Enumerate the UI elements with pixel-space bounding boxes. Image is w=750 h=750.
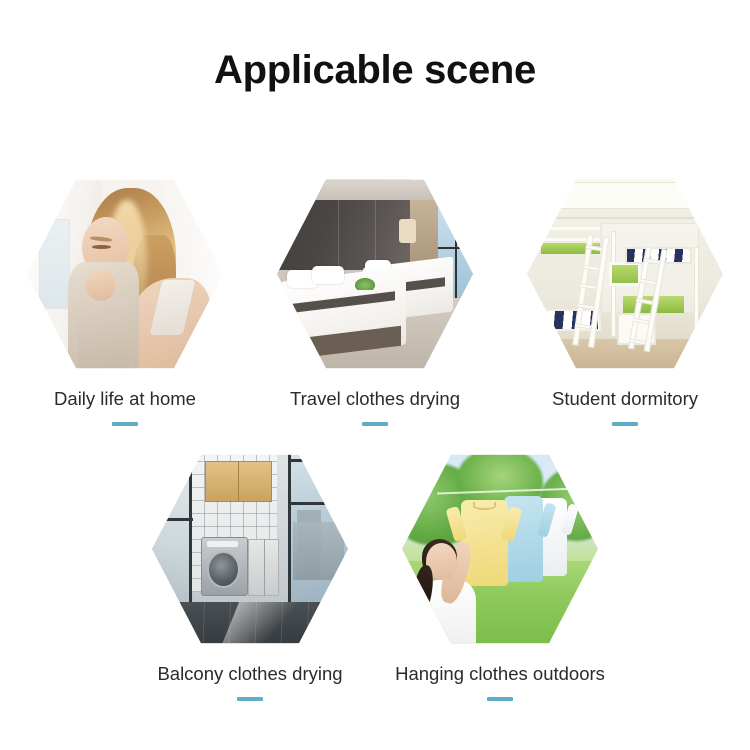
dormitory-scene-illustration — [527, 176, 723, 372]
accent-underline — [362, 422, 388, 426]
ladder-rung — [583, 264, 605, 271]
bunk-post — [694, 247, 699, 333]
page-title: Applicable scene — [0, 48, 750, 92]
scene-label-travel-clothes-drying: Travel clothes drying — [290, 388, 460, 410]
window-panel — [39, 219, 70, 309]
ladder-rung — [636, 298, 658, 306]
scene-label-hanging-clothes-outdoors: Hanging clothes outdoors — [395, 663, 605, 685]
scene-card-hanging-clothes-outdoors[interactable]: Hanging clothes outdoors — [375, 451, 625, 701]
scene-card-daily-life-at-home[interactable]: Daily life at home — [0, 176, 250, 426]
ladder-rung — [586, 245, 608, 252]
scene-label-daily-life-at-home: Daily life at home — [54, 388, 196, 410]
ladder-rung — [629, 338, 651, 346]
accent-underline — [612, 422, 638, 426]
balcony-scene-illustration — [152, 451, 348, 647]
plant-decor — [355, 278, 375, 290]
accent-underline — [237, 697, 263, 701]
washer-control-panel — [207, 541, 238, 547]
scene-image-student-dormitory — [527, 176, 723, 372]
towel-fold-shape — [78, 298, 129, 372]
cabinet-seam — [238, 461, 239, 502]
ladder-rung — [632, 318, 654, 326]
window-frame — [289, 502, 348, 505]
scene-card-student-dormitory[interactable]: Student dormitory — [500, 176, 750, 426]
window-frame — [152, 518, 193, 521]
city-building-near — [293, 522, 344, 581]
window-frame — [288, 451, 291, 604]
hotel-ceiling — [277, 176, 473, 200]
ladder-rung — [575, 323, 597, 330]
pillow — [312, 266, 343, 284]
ladder-rung — [639, 278, 661, 286]
scene-card-balcony-clothes-drying[interactable]: Balcony clothes drying — [125, 451, 375, 701]
scene-image-travel-clothes-drying — [277, 176, 473, 372]
cupboard-seam — [264, 539, 265, 596]
outdoor-scene-illustration — [402, 451, 598, 647]
scene-image-hanging-clothes-outdoors — [402, 451, 598, 647]
scene-image-daily-life-at-home — [27, 176, 223, 372]
balcony-window-left — [152, 451, 193, 608]
table-lamp — [399, 219, 417, 243]
applicable-scene-page: Applicable scene — [0, 0, 750, 750]
accent-underline — [487, 697, 513, 701]
scene-card-travel-clothes-drying[interactable]: Travel clothes drying — [250, 176, 500, 426]
ladder-rung — [643, 257, 665, 265]
window-mullion-horizontal — [438, 247, 473, 249]
window-frame — [189, 451, 192, 604]
scene-label-student-dormitory: Student dormitory — [552, 388, 698, 410]
eye-shape — [92, 245, 112, 249]
scene-label-balcony-clothes-drying: Balcony clothes drying — [157, 663, 342, 685]
window-frame — [289, 459, 348, 462]
ladder-rung — [577, 303, 599, 310]
bunk-head-panel — [609, 262, 640, 286]
scene-row-2: Balcony clothes drying — [0, 451, 750, 701]
dorm-ceiling-inset — [554, 182, 695, 209]
ladder-rung — [580, 284, 602, 291]
scene-row-1: Daily life at home — [0, 176, 750, 426]
accent-underline — [112, 422, 138, 426]
home-scene-illustration — [27, 176, 223, 372]
scene-image-balcony-clothes-drying — [152, 451, 348, 647]
shirt-collar — [473, 502, 497, 510]
hotel-scene-illustration — [277, 176, 473, 372]
